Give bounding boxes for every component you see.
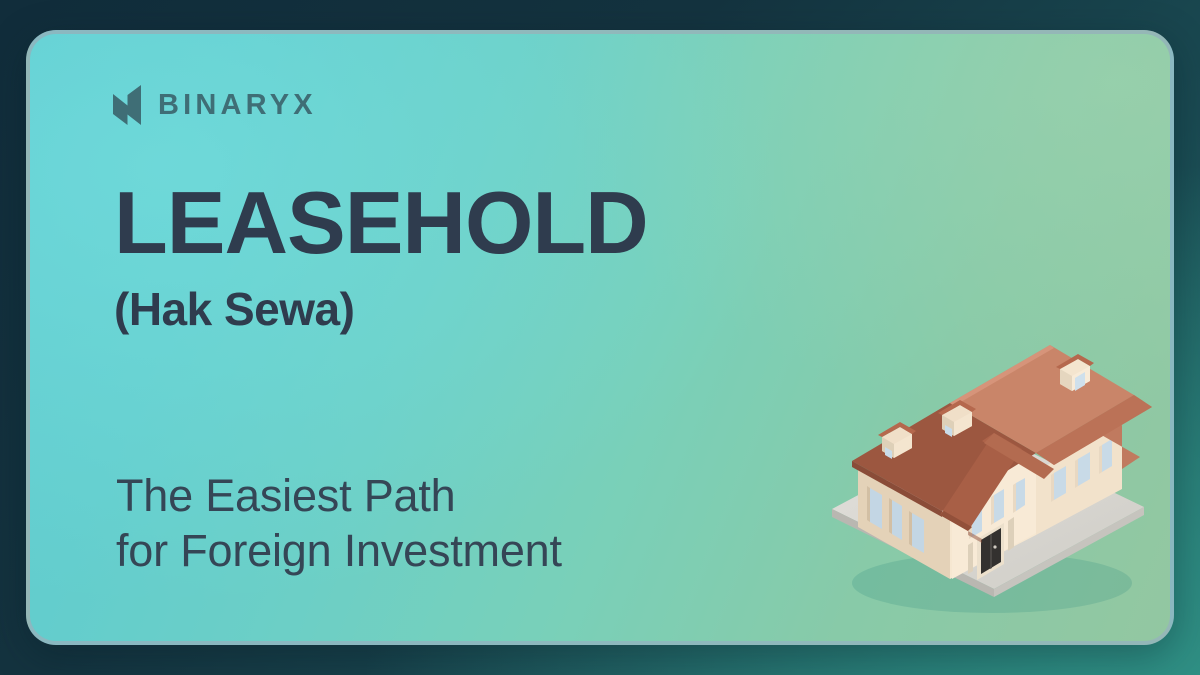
brand-name: BINARYX <box>158 91 317 120</box>
tagline-line-1: The Easiest Path <box>116 469 562 524</box>
tagline-line-2: for Foreign Investment <box>116 524 562 579</box>
page-subtitle: (Hak Sewa) <box>114 285 874 333</box>
poster-canvas: BINARYX LEASEHOLD (Hak Sewa) The Easiest… <box>0 0 1200 675</box>
isometric-house-illustration <box>822 321 1152 621</box>
brand-logo[interactable]: BINARYX <box>112 84 317 126</box>
leasehold-card: BINARYX LEASEHOLD (Hak Sewa) The Easiest… <box>26 30 1174 645</box>
tagline: The Easiest Path for Foreign Investment <box>116 469 562 579</box>
binaryx-flag-mark-icon <box>112 84 142 126</box>
headline-block: LEASEHOLD (Hak Sewa) <box>114 179 874 333</box>
page-title: LEASEHOLD <box>114 179 874 267</box>
